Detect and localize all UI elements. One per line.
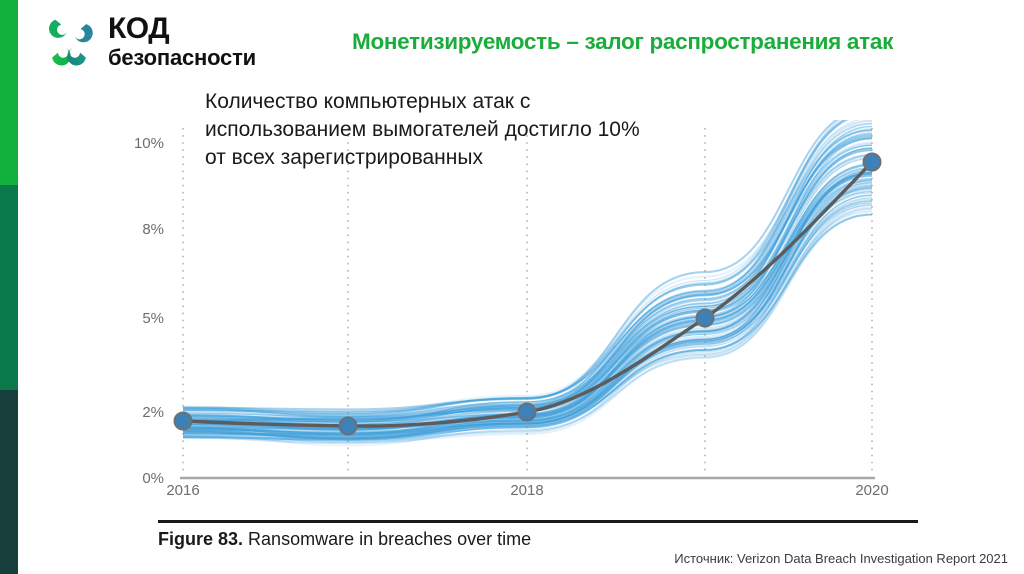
accent-segment-green — [0, 0, 18, 185]
figure-caption: Figure 83. Ransomware in breaches over t… — [158, 529, 531, 550]
x-tick-label-2020: 2020 — [837, 482, 907, 499]
figure-caption-text: Ransomware in breaches over time — [248, 529, 531, 549]
accent-segment-deep-teal — [0, 390, 18, 574]
x-tick-label-2016: 2016 — [148, 482, 218, 499]
data-point-2017 — [340, 418, 357, 435]
page-title: Монетизируемость – залог распространения… — [352, 29, 992, 55]
figure-divider — [158, 520, 918, 523]
x-tick-label-2018: 2018 — [492, 482, 562, 499]
chart-figure: 10% 8% 5% 2% 0% — [118, 120, 918, 560]
callout-text: Количество компьютерных атак с использов… — [205, 88, 645, 172]
chart-plot-area: 10% 8% 5% 2% 0% — [118, 120, 918, 510]
data-point-2019 — [697, 310, 714, 327]
brand-name-line2: безопасности — [108, 47, 256, 69]
brand-name-line1: КОД — [108, 14, 256, 44]
figure-number: Figure 83. — [158, 529, 243, 549]
data-point-2020 — [864, 154, 881, 171]
code-security-pinwheel-logo-icon — [40, 12, 98, 70]
chart-svg — [118, 120, 918, 510]
data-point-2016 — [175, 413, 192, 430]
brand-logo: КОД безопасности — [40, 12, 256, 70]
accent-segment-dark-green — [0, 185, 18, 390]
left-accent-bar — [0, 0, 18, 574]
data-point-2018 — [519, 404, 536, 421]
source-note: Источник: Verizon Data Breach Investigat… — [674, 551, 1008, 566]
